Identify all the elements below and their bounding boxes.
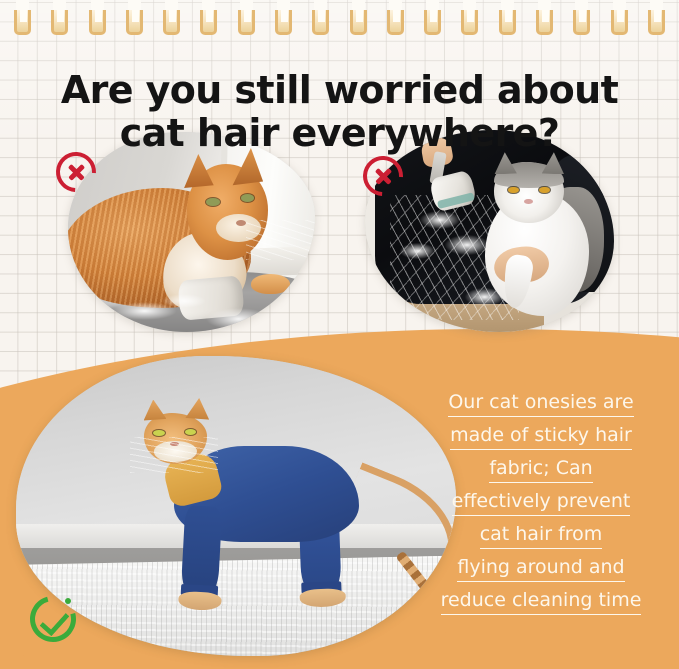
photo-b-hair-tuft-3	[400, 243, 435, 259]
binding-ring	[14, 10, 31, 35]
binding-ring	[312, 10, 329, 35]
description-line-text: fabric; Can	[489, 457, 592, 483]
photo-ginger-cat-shedding-content	[68, 132, 315, 332]
binding-clip	[536, 10, 553, 38]
cross-circle-icon	[56, 152, 96, 192]
photo-b-cat-nose	[524, 199, 533, 204]
cross-circle-icon	[363, 156, 403, 196]
photo-a-loose-fur-3	[162, 294, 206, 308]
description-line-text: effectively prevent	[452, 490, 631, 516]
binding-ring	[536, 10, 553, 35]
binding-ring	[573, 10, 590, 35]
description-line-text: reduce cleaning time	[441, 589, 642, 615]
check-circle-icon	[30, 596, 76, 642]
binding-clip	[126, 10, 143, 38]
description-line: reduce cleaning time	[421, 584, 661, 617]
photo-ginger-cat-shedding	[68, 132, 315, 332]
binding-clip	[275, 10, 292, 38]
binding-clip	[312, 10, 329, 38]
photo-a-cat-whiskers	[246, 220, 315, 260]
photo-c-cat-whiskers	[130, 437, 218, 473]
binding-clip	[648, 10, 665, 38]
binding-clip	[163, 10, 180, 38]
binding-ring	[163, 10, 180, 35]
photo-cat-wearing-blue-onesie-content	[16, 356, 456, 656]
binding-ring	[200, 10, 217, 35]
binding-ring	[387, 10, 404, 35]
photo-a-loose-fur-2	[206, 308, 270, 330]
binding-clip	[573, 10, 590, 38]
binding-clip	[499, 10, 516, 38]
product-infographic-poster: Are you still worried about cat hair eve…	[0, 0, 679, 669]
binding-ring	[648, 10, 665, 35]
binding-ring	[611, 10, 628, 35]
photo-b-hair-tuft-1	[420, 211, 460, 229]
description-line: effectively prevent	[421, 485, 661, 518]
binding-clip	[424, 10, 441, 38]
page-title: Are you still worried about cat hair eve…	[0, 69, 679, 155]
photo-a-cat-eye-left	[206, 198, 220, 206]
photo-c-white-rug	[16, 555, 456, 656]
description-line-text: flying around and	[457, 556, 624, 582]
description-line-text: Our cat onesies are	[448, 391, 633, 417]
binding-clip	[14, 10, 31, 38]
notebook-binding	[0, 0, 679, 40]
description-line: made of sticky hair	[421, 419, 661, 452]
binding-clip	[461, 10, 478, 38]
description-line: cat hair from	[421, 518, 661, 551]
binding-clip	[200, 10, 217, 38]
photo-b-hair-tuft-2	[445, 235, 490, 255]
binding-clip	[51, 10, 68, 38]
binding-ring	[51, 10, 68, 35]
binding-ring	[275, 10, 292, 35]
check-circle-dot	[65, 598, 71, 604]
photo-cat-wearing-blue-onesie	[16, 356, 456, 656]
description-line: fabric; Can	[421, 452, 661, 485]
binding-clip	[89, 10, 106, 38]
description-line-text: made of sticky hair	[450, 424, 632, 450]
description-line-text: cat hair from	[480, 523, 603, 549]
photo-a-cat-nose	[236, 220, 246, 226]
description-line: Our cat onesies are	[421, 386, 661, 419]
binding-ring	[89, 10, 106, 35]
photo-c-cat-front-leg	[181, 505, 223, 597]
binding-clip	[611, 10, 628, 38]
binding-ring	[499, 10, 516, 35]
binding-clip	[350, 10, 367, 38]
binding-ring	[424, 10, 441, 35]
binding-ring	[238, 10, 255, 35]
photo-a-cat-paw	[251, 274, 291, 294]
product-description-copy: Our cat onesies aremade of sticky hairfa…	[421, 386, 661, 617]
binding-clip	[238, 10, 255, 38]
photo-c-cat-eye-right	[185, 429, 196, 435]
binding-ring	[350, 10, 367, 35]
binding-clip	[387, 10, 404, 38]
photo-c-cat-eye-left	[153, 430, 164, 436]
binding-ring	[461, 10, 478, 35]
description-line: flying around and	[421, 551, 661, 584]
binding-ring	[126, 10, 143, 35]
